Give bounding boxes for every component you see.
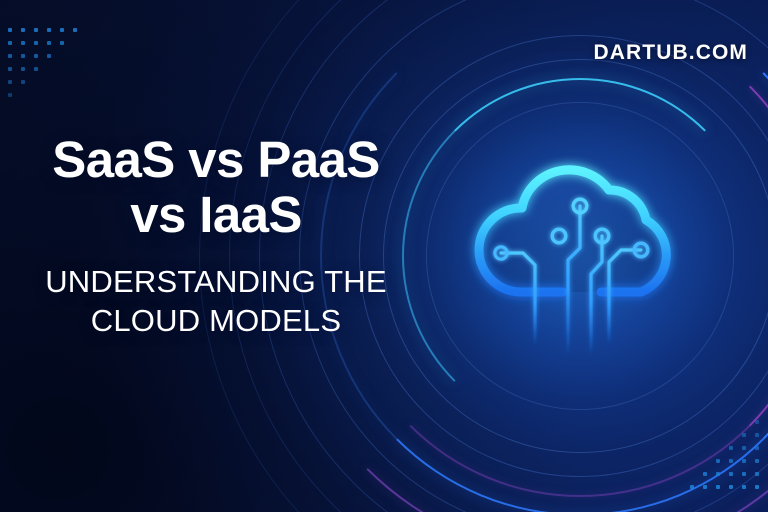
decor-dot	[716, 485, 720, 489]
decor-dot	[729, 446, 733, 450]
decor-dot	[716, 459, 720, 463]
decor-dot	[47, 54, 51, 58]
dot-grid-bottom-right	[690, 420, 768, 510]
headline-line-1: SaaS vs PaaS	[52, 131, 379, 188]
decor-dot	[60, 41, 64, 45]
cloud-circuit-svg	[455, 140, 705, 355]
decor-dot	[21, 41, 25, 45]
dot-grid-top-left	[8, 28, 98, 118]
decor-dot	[729, 485, 733, 489]
decor-dot	[729, 459, 733, 463]
decor-dot	[21, 67, 25, 71]
decor-dot	[34, 67, 38, 71]
page-subtitle: UNDERSTANDING THE CLOUD MODELS	[0, 262, 432, 340]
decor-dot	[21, 80, 25, 84]
decor-dot	[755, 433, 759, 437]
decor-dot	[755, 472, 759, 476]
decor-dot	[742, 459, 746, 463]
decor-dot	[21, 28, 25, 32]
decor-dot	[742, 433, 746, 437]
decor-dot	[8, 54, 12, 58]
decor-dot	[21, 54, 25, 58]
decor-dot	[729, 472, 733, 476]
decor-dot	[47, 28, 51, 32]
decor-dot	[755, 459, 759, 463]
subhead-line-2: CLOUD MODELS	[91, 303, 341, 338]
site-logo-text[interactable]: DARTUB.COM	[594, 41, 748, 65]
decor-dot	[8, 41, 12, 45]
cloud-fill	[485, 172, 669, 292]
decor-dot	[716, 472, 720, 476]
decor-dot	[742, 446, 746, 450]
subhead-line-1: UNDERSTANDING THE	[45, 264, 387, 299]
decor-dot	[34, 28, 38, 32]
decor-dot	[73, 28, 77, 32]
decor-dot	[47, 41, 51, 45]
headline-line-2: vs IaaS	[130, 186, 302, 243]
decor-dot	[8, 67, 12, 71]
decor-dot	[34, 41, 38, 45]
decor-dot	[34, 54, 38, 58]
decor-dot	[60, 28, 64, 32]
decor-dot	[8, 28, 12, 32]
cloud-icon-wrapper	[455, 140, 705, 355]
decor-dot	[703, 485, 707, 489]
decor-dot	[8, 80, 12, 84]
poster-canvas: DARTUB.COM SaaS vs PaaS vs IaaS UNDERSTA…	[0, 0, 768, 512]
decor-dot	[742, 472, 746, 476]
decor-dot	[755, 485, 759, 489]
decor-dot	[690, 485, 694, 489]
decor-dot	[8, 93, 12, 97]
decor-dot	[703, 472, 707, 476]
page-title: SaaS vs PaaS vs IaaS	[0, 132, 432, 242]
decor-dot	[755, 420, 759, 424]
decor-dot	[755, 446, 759, 450]
title-block: SaaS vs PaaS vs IaaS UNDERSTANDING THE C…	[0, 132, 432, 340]
decor-dot	[742, 485, 746, 489]
